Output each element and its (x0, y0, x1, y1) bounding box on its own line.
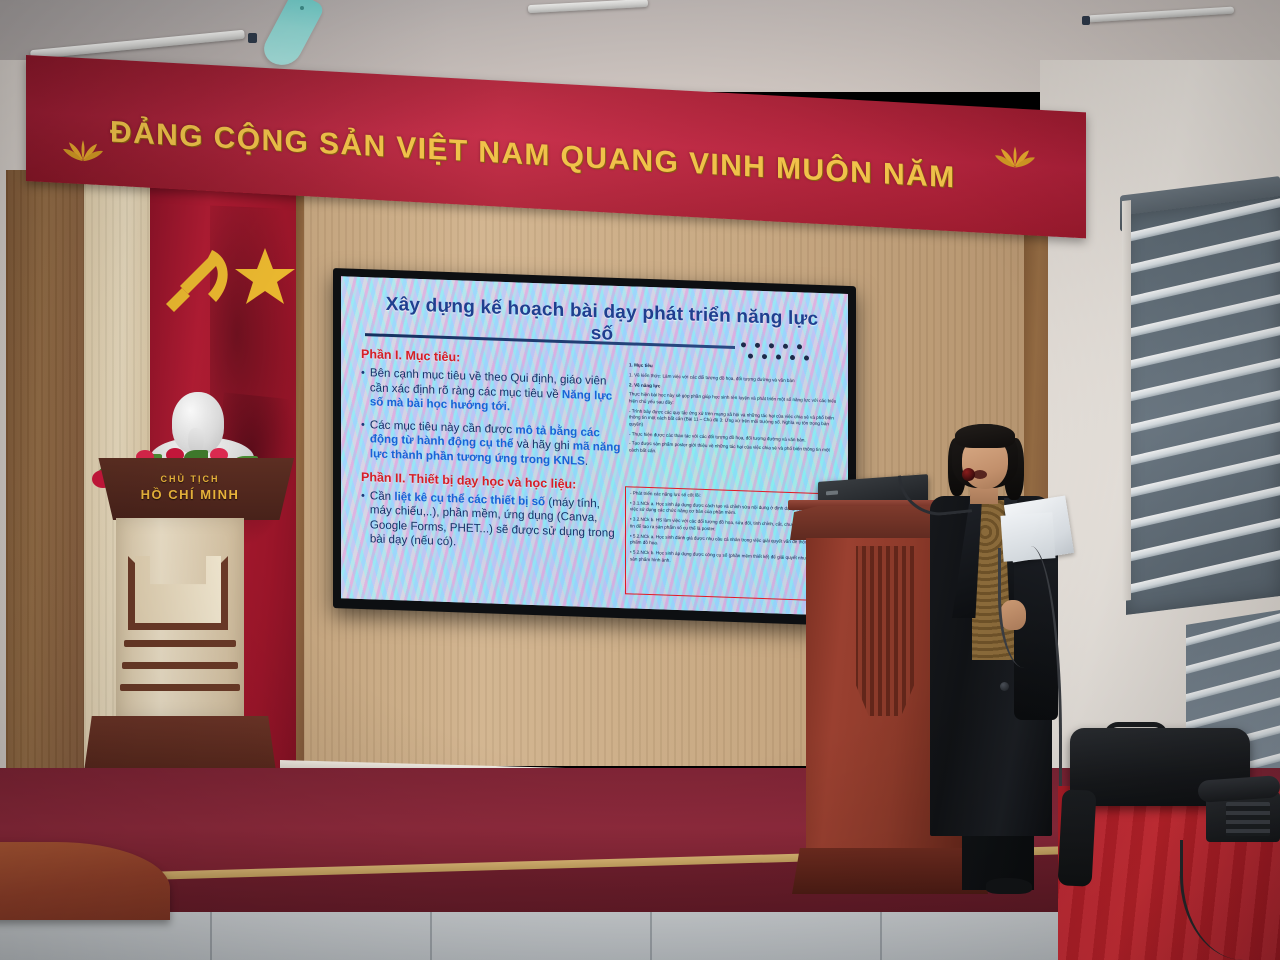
speaker-fringe (955, 424, 1015, 448)
bullet-seg: và hãy ghi (517, 438, 573, 453)
laptop-logo (826, 490, 838, 495)
light-tube-cap-3 (1082, 16, 1090, 25)
bullet-marker-icon: • (361, 366, 365, 410)
bag-shoulder-strap (1058, 789, 1097, 887)
bullet-seg: Cần (370, 489, 395, 503)
presentation-screen: Xây dựng kế hoạch bài dạy phát triển năn… (333, 268, 856, 626)
slide-bullet: • Bên cạnh mục tiêu về theo Qui định, gi… (361, 366, 621, 419)
light-tube-cap-2 (248, 33, 257, 43)
slide-right-column: 1. Mục tiêu 1. Về kiến thức: Làm việc vớ… (629, 362, 839, 464)
bullet-seg: . (585, 455, 588, 468)
slide-content: Xây dựng kế hoạch bài dạy phát triển năn… (341, 276, 848, 616)
pedestal-stripe-2 (122, 662, 238, 669)
screen-surface: Xây dựng kế hoạch bài dạy phát triển năn… (341, 276, 848, 616)
window-frame (1122, 200, 1131, 601)
bullet-marker-icon: • (361, 489, 365, 548)
pedestal-stripe-3 (120, 684, 240, 691)
podium-fluting (856, 546, 914, 716)
bullet-marker-icon: • (361, 418, 365, 462)
microphone-head-icon[interactable] (962, 468, 975, 481)
pedestal-label-line1: CHỦ TỊCH (86, 474, 294, 484)
window-blinds[interactable] (1126, 196, 1280, 615)
lotus-icon-left (62, 135, 104, 163)
slide-left-column: Phần I. Mục tiêu: • Bên cạnh mục tiêu về… (361, 347, 621, 564)
lotus-icon-right (994, 141, 1036, 169)
slide-bullet: • Cần liệt kê cụ thể các thiết bị số (má… (361, 489, 621, 556)
gold-star-icon (234, 246, 296, 308)
blazer-button-1 (1000, 682, 1009, 691)
speaker-mouth (973, 470, 987, 479)
podium-base (792, 848, 988, 894)
fan-screw-dot (300, 6, 304, 10)
pedestal-stripe-1 (124, 640, 236, 647)
dots-decoration (741, 340, 841, 369)
right-col-line: - Trình bày được các quy tắc ứng xử trên… (629, 408, 839, 435)
conference-hall-photo: ĐẢNG CỘNG SẢN VIỆT NAM QUANG VINH MUÔN N… (0, 0, 1280, 960)
left-wood-door (6, 170, 86, 810)
pedestal-label-line2: HỒ CHÍ MINH (86, 487, 294, 502)
hammer-and-sickle-icon (160, 242, 238, 314)
wood-wall-divider-left (296, 176, 304, 766)
slide-bullet: • Các mục tiêu này cần được mô tả bằng c… (361, 418, 621, 471)
speaker-shoe (986, 878, 1032, 894)
telephone-keypad[interactable] (1226, 802, 1270, 836)
